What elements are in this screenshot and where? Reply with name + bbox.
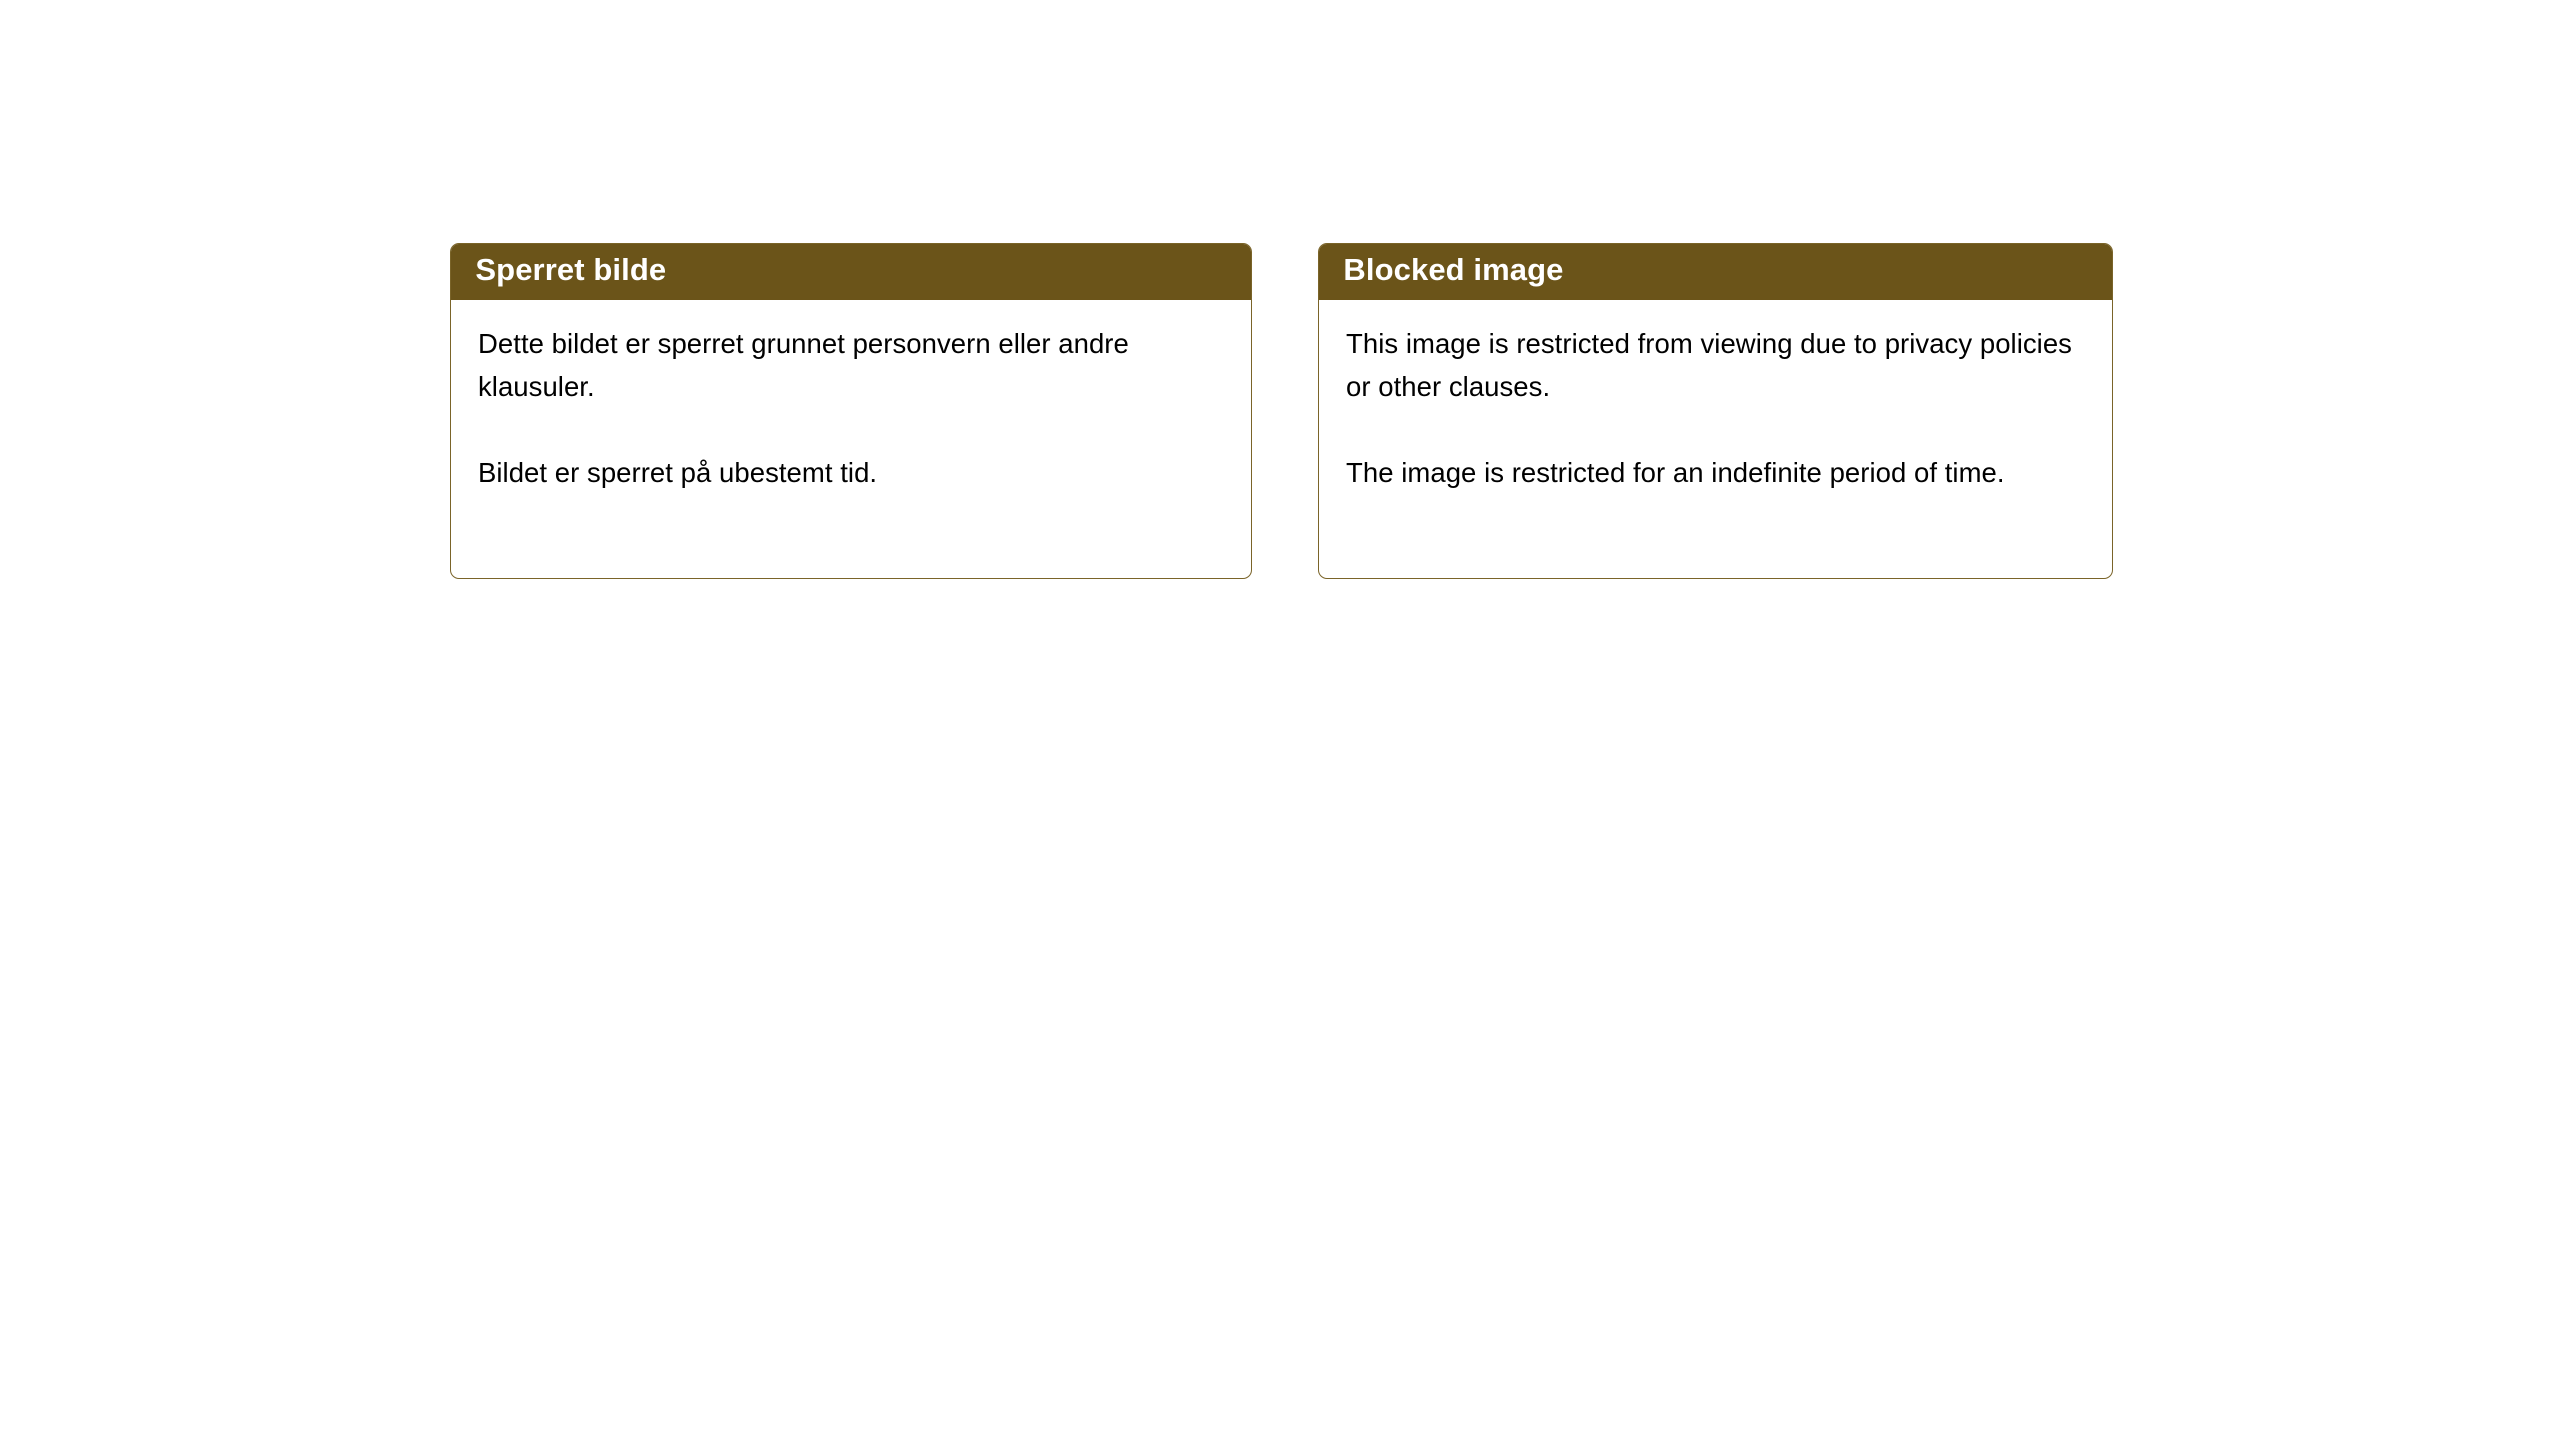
panel-body-no: Dette bildet er sperret grunnet personve… (451, 300, 1251, 494)
panel-header-en: Blocked image (1318, 243, 2113, 300)
panel-title-en: Blocked image (1343, 254, 1563, 288)
page-canvas: Sperret bilde Dette bildet er sperret gr… (0, 0, 2560, 1440)
panel-paragraph-en-2: The image is restricted for an indefinit… (1346, 451, 2092, 494)
panel-body-en: This image is restricted from viewing du… (1319, 300, 2112, 494)
panel-paragraph-no-2: Bildet er sperret på ubestemt tid. (478, 451, 1231, 494)
panel-paragraph-en-1: This image is restricted from viewing du… (1346, 322, 2092, 408)
blocked-image-panel-no: Sperret bilde Dette bildet er sperret gr… (450, 243, 1252, 579)
panel-paragraph-no-1: Dette bildet er sperret grunnet personve… (478, 322, 1231, 408)
panel-header-no: Sperret bilde (450, 243, 1252, 300)
panel-title-no: Sperret bilde (475, 254, 666, 288)
blocked-image-panel-en: Blocked image This image is restricted f… (1318, 243, 2113, 579)
